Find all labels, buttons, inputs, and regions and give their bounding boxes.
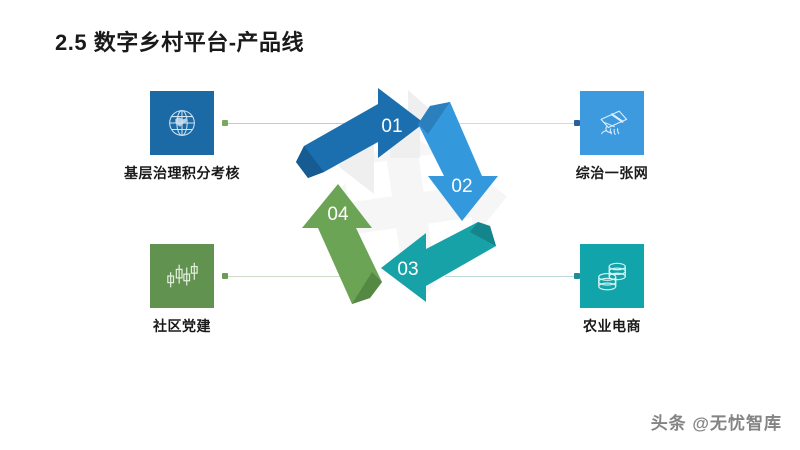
card-zongzhi-yizhangwang[interactable]: 综治一张网 (580, 91, 644, 155)
slide-canvas: 2.5 数字乡村平台-产品线 (0, 0, 800, 450)
coin-stack-icon (593, 258, 631, 294)
connector-dot (222, 120, 228, 126)
cycle-arrow-03-number: 03 (397, 259, 418, 280)
page-title: 2.5 数字乡村平台-产品线 (55, 25, 304, 57)
cycle-arrow-02-number: 02 (451, 176, 472, 197)
watermark: 头条 @无忧智库 (651, 409, 782, 434)
connector-dot (222, 273, 228, 279)
card-shequ-dangjian[interactable]: 社区党建 (150, 244, 214, 308)
cycle-arrow-04-number: 04 (327, 204, 349, 225)
cycle-arrow-01-number: 01 (381, 116, 402, 137)
candlestick-chart-icon (163, 259, 201, 293)
card-label: 农业电商 (583, 316, 641, 336)
card-nongye-dianshang[interactable]: 农业电商 (580, 244, 644, 308)
card-jiceng-zhili[interactable]: 基层治理积分考核 (150, 91, 214, 155)
cycle-diagram: 01 02 03 04 (282, 80, 538, 352)
card-label: 社区党建 (153, 316, 211, 336)
globe-grid-icon (163, 104, 201, 142)
hand-card-icon (592, 104, 632, 142)
card-label: 综治一张网 (576, 163, 649, 183)
card-label: 基层治理积分考核 (124, 163, 240, 183)
